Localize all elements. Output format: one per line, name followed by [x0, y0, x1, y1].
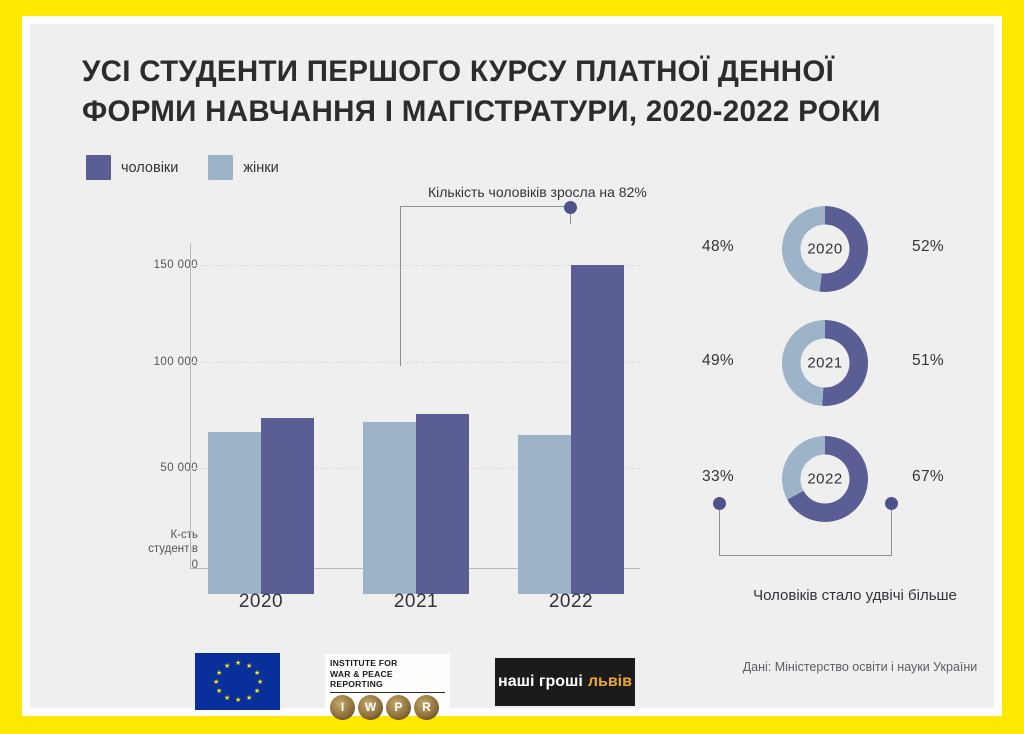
- x-tick-2020: 2020: [208, 591, 314, 613]
- iwpr-logo: INSTITUTE FOR WAR & PEACE REPORTING I W …: [325, 654, 450, 709]
- bar-2020-women: [208, 432, 261, 594]
- logo-strip: ★ ★ ★ ★ ★ ★ ★ ★ ★ ★ ★ ★ INSTITUTE FOR WA…: [195, 653, 635, 710]
- iwpr-coin-r: R: [414, 695, 439, 720]
- infographic-frame: УСІ СТУДЕНТИ ПЕРШОГО КУРСУ ПЛАТНОЇ ДЕННО…: [0, 0, 1024, 734]
- donut-chart-2020: 2020: [782, 206, 868, 292]
- bracket-bridge: [719, 555, 892, 556]
- bar-2022-men: [571, 265, 624, 594]
- iwpr-coin-i: I: [330, 695, 355, 720]
- y-axis-caption-line1: К-сть: [118, 528, 198, 542]
- donut-chart-2022: 2022: [782, 436, 868, 522]
- donut-2021-women-pct: 49%: [688, 352, 748, 370]
- x-tick-2021: 2021: [363, 591, 469, 613]
- bar-2020-men: [261, 418, 314, 594]
- donut-center-year-2022: 2022: [801, 455, 850, 504]
- donut-row-2022: 2022 33% 67%: [660, 436, 990, 546]
- donut-chart-2021: 2021: [782, 320, 868, 406]
- y-tick-100000: 100 000: [118, 356, 198, 368]
- iwpr-coin-row: I W P R: [330, 695, 445, 720]
- annotation-stem-left: [400, 206, 401, 366]
- bracket-stem-left: [719, 510, 720, 556]
- y-axis-zero: 0: [118, 558, 198, 572]
- donut-row-2021: 2021 49% 51%: [660, 320, 990, 430]
- donut-center-year-2021: 2021: [801, 339, 850, 388]
- y-axis-line: [190, 243, 191, 568]
- nashi-groshi-lviv-logo: наші гроші львів: [495, 658, 635, 706]
- donut-2022-women-pct: 33%: [688, 468, 748, 486]
- iwpr-line-2: WAR & PEACE REPORTING: [330, 669, 445, 690]
- donut-row-2020: 2020 48% 52%: [660, 206, 990, 316]
- source-note: Дані: Міністерство освіти і науки Україн…: [690, 660, 1024, 674]
- bracket-dot-left: [713, 497, 726, 510]
- bracket-stem-right: [891, 510, 892, 556]
- eu-flag-logo: ★ ★ ★ ★ ★ ★ ★ ★ ★ ★ ★ ★: [195, 653, 280, 710]
- bar-2021-men: [416, 414, 469, 594]
- donut-2020-men-pct: 52%: [898, 238, 958, 256]
- iwpr-coin-w: W: [358, 695, 383, 720]
- donut-2020-women-pct: 48%: [688, 238, 748, 256]
- y-tick-150000: 150 000: [118, 259, 198, 271]
- donut-center-year-2020: 2020: [801, 225, 850, 274]
- iwpr-coin-p: P: [386, 695, 411, 720]
- donut-2022-men-pct: 67%: [898, 468, 958, 486]
- bracket-dot-right: [885, 497, 898, 510]
- donut-caption: Чоловіків стало удвічі більше: [690, 587, 1020, 604]
- iwpr-divider: [330, 692, 445, 693]
- annotation-dot: [564, 201, 577, 214]
- bar-2021-women: [363, 422, 416, 594]
- y-axis-caption-line2: студентів: [118, 542, 198, 556]
- infographic-panel: УСІ СТУДЕНТИ ПЕРШОГО КУРСУ ПЛАТНОЇ ДЕННО…: [30, 24, 994, 708]
- y-tick-50000: 50 000: [118, 462, 198, 474]
- bar-2022-women: [518, 435, 571, 594]
- annotation-bridge: [400, 206, 570, 207]
- annotation-label: Кількість чоловіків зросла на 82%: [428, 184, 647, 200]
- iwpr-line-1: INSTITUTE FOR: [330, 658, 445, 669]
- x-tick-2022: 2022: [518, 591, 624, 613]
- lviv-text: львів: [588, 673, 632, 691]
- donut-2021-men-pct: 51%: [898, 352, 958, 370]
- bar-chart: 150 000 100 000 50 000 К-сть студентів 0: [60, 48, 660, 608]
- nashi-groshi-text: наші гроші: [498, 673, 583, 691]
